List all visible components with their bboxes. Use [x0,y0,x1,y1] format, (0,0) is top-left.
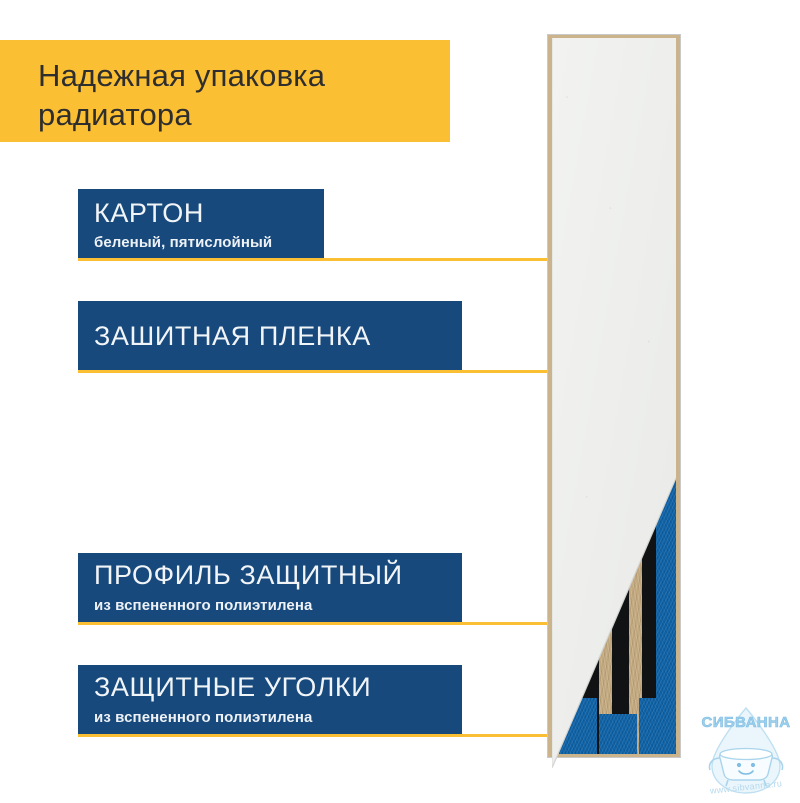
callout-profil-zashchitnyy-connector [78,622,579,625]
page-title-line-1: Надежная упаковка [38,58,325,94]
callout-karton-title: КАРТОН [94,198,204,229]
callout-zashchitnye-ugolki-connector [78,734,579,737]
callout-zashchitnye-ugolki-subtitle: из вспененного полиэтилена [94,709,312,726]
watermark-brand: СИБВАННА [696,714,796,731]
callout-karton-subtitle: беленый, пятислойный [94,234,272,251]
radiator-package-illustration [548,35,680,757]
callout-zashchitnye-ugolki-title: ЗАЩИТНЫЕ УГОЛКИ [94,672,371,703]
page-title-line-2: радиатора [38,97,192,133]
title-banner: Надежная упаковка радиатора [0,40,450,142]
protective-corner-middle [599,714,637,754]
infographic-canvas: Надежная упаковка радиатора КАРТОН белен… [0,0,800,800]
watermark-logo: СИБВАННА www.sibvanna.ru [694,702,798,798]
callout-karton-connector [78,258,581,261]
callout-zashitnaya-plenka-connector [78,370,599,373]
protective-corner-right [639,698,676,754]
callout-zashitnaya-plenka-title: ЗАШИТНАЯ ПЛЕНКА [94,321,371,352]
callout-profil-zashchitnyy-subtitle: из вспененного полиэтилена [94,597,312,614]
callout-profil-zashchitnyy-title: ПРОФИЛЬ ЗАЩИТНЫЙ [94,560,403,591]
